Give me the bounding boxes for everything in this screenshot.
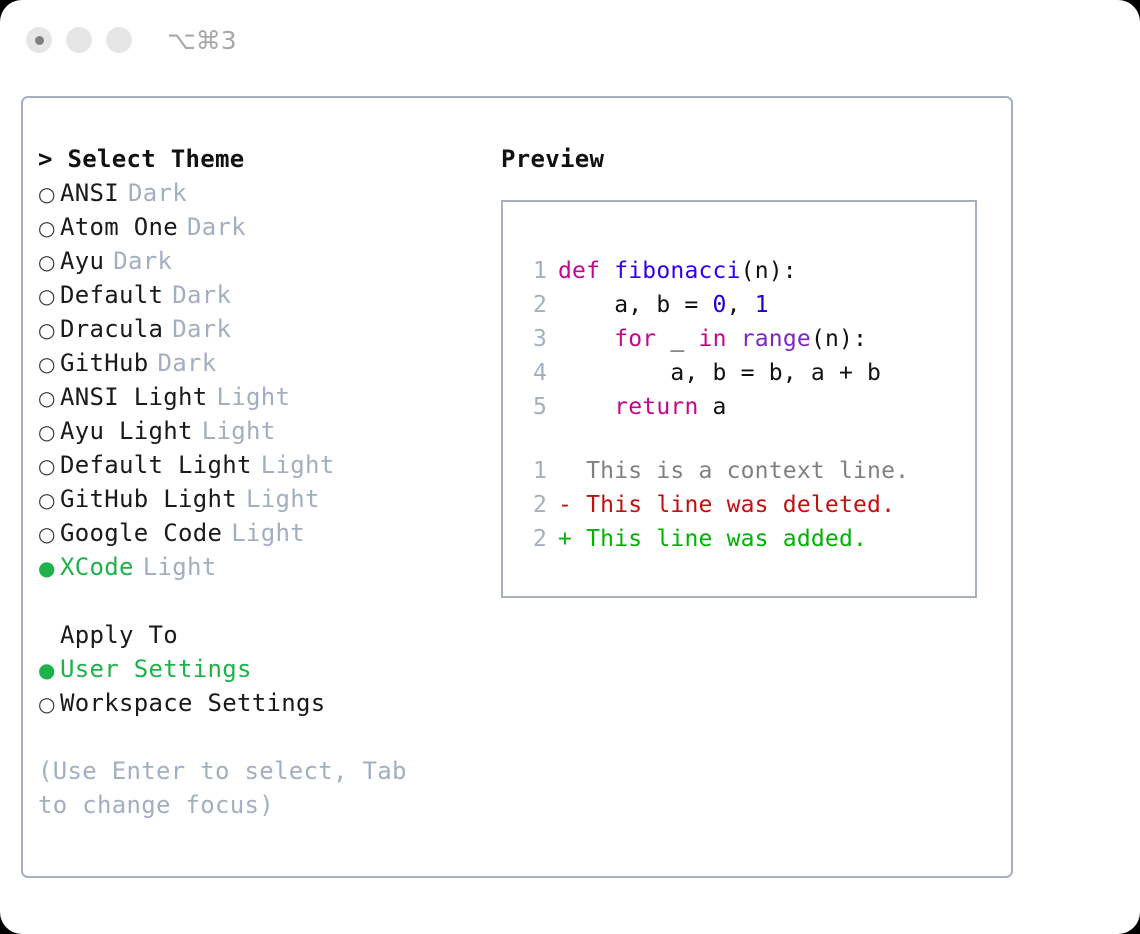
code-token-kw: def — [558, 258, 614, 284]
preview-code-box: 1def fibonacci(n):2 a, b = 0, 13 for _ i… — [501, 200, 977, 598]
code-line: 2 a, b = 0, 1 — [521, 288, 975, 322]
title-bar: ⌥⌘3 — [0, 0, 1140, 80]
theme-variant-tag: Dark — [113, 244, 172, 278]
code-token-pln — [558, 394, 614, 420]
code-sample: 1def fibonacci(n):2 a, b = 0, 13 for _ i… — [521, 254, 975, 424]
window-dot-maximize[interactable] — [106, 27, 132, 53]
theme-variant-tag: Dark — [187, 210, 246, 244]
app-window: ⌥⌘3 > Select Theme ○ANSIDark○Atom OneDar… — [0, 0, 1140, 934]
radio-unselected-icon: ○ — [38, 177, 60, 211]
code-line: 1def fibonacci(n): — [521, 254, 975, 288]
radio-selected-icon: ● — [38, 653, 60, 687]
theme-option-label: GitHub Light — [60, 482, 237, 516]
code-token-pln: (n): — [811, 326, 867, 352]
radio-unselected-icon: ○ — [38, 211, 60, 245]
radio-unselected-icon: ○ — [38, 381, 60, 415]
radio-unselected-icon: ○ — [38, 483, 60, 517]
code-line: 3 for _ in range(n): — [521, 322, 975, 356]
radio-unselected-icon: ○ — [38, 279, 60, 313]
theme-option-xcode[interactable]: ●XCodeLight — [38, 550, 488, 584]
line-number: 2 — [521, 522, 547, 556]
theme-variant-tag: Dark — [128, 176, 187, 210]
radio-unselected-icon: ○ — [38, 415, 60, 449]
line-number: 3 — [521, 322, 547, 356]
apply-to-option-user-settings[interactable]: ●User Settings — [38, 652, 488, 686]
radio-unselected-icon: ○ — [38, 687, 60, 721]
theme-variant-tag: Dark — [158, 346, 217, 380]
theme-option-label: Google Code — [60, 516, 222, 550]
apply-to-option-workspace-settings[interactable]: ○Workspace Settings — [38, 686, 488, 720]
theme-option-ansi-light[interactable]: ○ANSI LightLight — [38, 380, 488, 414]
diff-sample: 1 This is a context line.2- This line wa… — [521, 454, 975, 556]
theme-variant-tag: Light — [143, 550, 217, 584]
code-token-fn: fibonacci — [614, 258, 740, 284]
code-text: return a — [558, 390, 727, 424]
code-token-num: 0 — [713, 292, 727, 318]
window-dot-close[interactable] — [26, 27, 52, 53]
preview-heading: Preview — [501, 142, 991, 176]
code-line: 4 a, b = b, a + b — [521, 356, 975, 390]
code-token-call: range — [741, 326, 811, 352]
diff-marker — [558, 454, 586, 488]
radio-unselected-icon: ○ — [38, 517, 60, 551]
radio-unselected-icon: ○ — [38, 347, 60, 381]
diff-line-ctx: 1 This is a context line. — [521, 454, 975, 488]
keyboard-shortcut-label: ⌥⌘3 — [167, 26, 237, 55]
line-number: 1 — [521, 254, 547, 288]
code-token-pln — [558, 326, 614, 352]
preview-column: Preview 1def fibonacci(n):2 a, b = 0, 13… — [501, 142, 991, 598]
main-panel: > Select Theme ○ANSIDark○Atom OneDark○Ay… — [21, 96, 1013, 878]
code-token-pln — [727, 326, 741, 352]
window-dot-inner — [35, 36, 44, 45]
code-token-kw: for — [614, 326, 656, 352]
theme-option-dracula[interactable]: ○DraculaDark — [38, 312, 488, 346]
window-dot-minimize[interactable] — [66, 27, 92, 53]
apply-to-heading: Apply To — [38, 618, 488, 652]
theme-selector-column: > Select Theme ○ANSIDark○Atom OneDark○Ay… — [38, 142, 488, 822]
theme-option-ayu-light[interactable]: ○Ayu LightLight — [38, 414, 488, 448]
line-number: 4 — [521, 356, 547, 390]
code-token-pln: _ — [656, 326, 698, 352]
theme-option-label: XCode — [60, 550, 134, 584]
theme-variant-tag: Light — [246, 482, 320, 516]
theme-variant-tag: Dark — [172, 312, 231, 346]
spacer — [38, 584, 488, 618]
code-text: def fibonacci(n): — [558, 254, 797, 288]
keyboard-hint-text: (Use Enter to select, Tab to change focu… — [38, 754, 446, 822]
apply-to-option-label: Workspace Settings — [60, 686, 326, 720]
line-number: 2 — [521, 288, 547, 322]
spacer — [521, 424, 975, 454]
radio-unselected-icon: ○ — [38, 245, 60, 279]
diff-marker: - — [558, 488, 586, 522]
diff-line-add: 2+ This line was added. — [521, 522, 975, 556]
line-number: 2 — [521, 488, 547, 522]
diff-line-del: 2- This line was deleted. — [521, 488, 975, 522]
theme-option-ansi[interactable]: ○ANSIDark — [38, 176, 488, 210]
diff-marker: + — [558, 522, 586, 556]
radio-selected-icon: ● — [38, 551, 60, 585]
theme-variant-tag: Light — [217, 380, 291, 414]
code-token-kw: in — [699, 326, 727, 352]
theme-variant-tag: Light — [231, 516, 305, 550]
theme-option-label: Default — [60, 278, 163, 312]
window-controls — [26, 27, 132, 53]
code-token-pln: a, b = b, a + b — [558, 360, 881, 386]
theme-option-google-code[interactable]: ○Google CodeLight — [38, 516, 488, 550]
theme-option-label: ANSI Light — [60, 380, 208, 414]
theme-option-list: ○ANSIDark○Atom OneDark○AyuDark○DefaultDa… — [38, 176, 488, 584]
code-token-pln: a, b = — [558, 292, 713, 318]
theme-option-ayu[interactable]: ○AyuDark — [38, 244, 488, 278]
code-token-pln: , — [727, 292, 755, 318]
diff-text: This line was deleted. — [586, 488, 895, 522]
radio-unselected-icon: ○ — [38, 449, 60, 483]
code-token-pln: a — [699, 394, 727, 420]
theme-option-label: GitHub — [60, 346, 149, 380]
theme-option-default[interactable]: ○DefaultDark — [38, 278, 488, 312]
theme-option-label: Atom One — [60, 210, 178, 244]
theme-option-github-light[interactable]: ○GitHub LightLight — [38, 482, 488, 516]
code-token-pln: (n): — [741, 258, 797, 284]
theme-option-label: ANSI — [60, 176, 119, 210]
line-number: 1 — [521, 454, 547, 488]
theme-option-label: Dracula — [60, 312, 163, 346]
theme-variant-tag: Light — [261, 448, 335, 482]
theme-option-label: Ayu — [60, 244, 104, 278]
theme-variant-tag: Dark — [172, 278, 231, 312]
theme-option-github[interactable]: ○GitHubDark — [38, 346, 488, 380]
theme-option-label: Ayu Light — [60, 414, 193, 448]
apply-to-option-list: ●User Settings○Workspace Settings — [38, 652, 488, 720]
diff-text: This line was added. — [586, 522, 867, 556]
line-number: 5 — [521, 390, 547, 424]
code-text: a, b = 0, 1 — [558, 288, 769, 322]
code-token-kw: return — [614, 394, 698, 420]
theme-option-default-light[interactable]: ○Default LightLight — [38, 448, 488, 482]
diff-text: This is a context line. — [586, 454, 909, 488]
code-line: 5 return a — [521, 390, 975, 424]
select-theme-heading: > Select Theme — [38, 142, 488, 176]
apply-to-option-label: User Settings — [60, 652, 252, 686]
theme-option-label: Default Light — [60, 448, 252, 482]
code-token-num: 1 — [755, 292, 769, 318]
radio-unselected-icon: ○ — [38, 313, 60, 347]
code-text: a, b = b, a + b — [558, 356, 881, 390]
theme-option-atom-one[interactable]: ○Atom OneDark — [38, 210, 488, 244]
theme-variant-tag: Light — [202, 414, 276, 448]
code-text: for _ in range(n): — [558, 322, 867, 356]
